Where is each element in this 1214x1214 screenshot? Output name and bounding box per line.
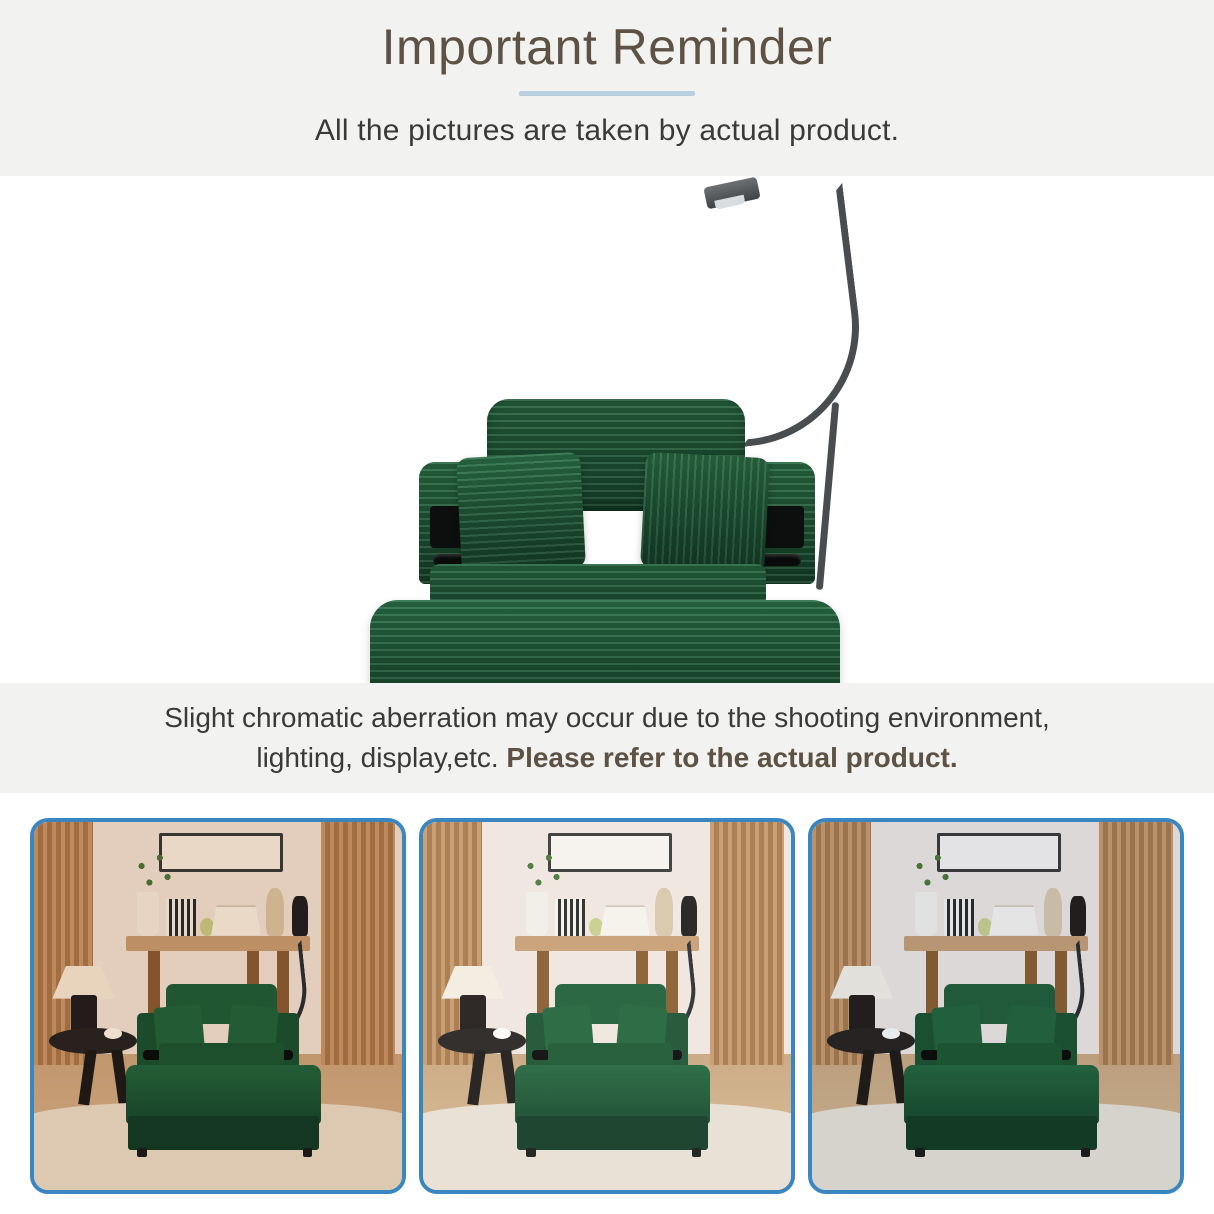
page-subtitle: All the pictures are taken by actual pro… — [315, 114, 899, 148]
corduroy-texture — [640, 452, 770, 574]
chaise-seat-top — [370, 600, 840, 683]
room-scene — [34, 822, 402, 1190]
caption-line-2-strong: Please refer to the actual product. — [506, 742, 957, 773]
title-divider — [519, 91, 695, 96]
thumbnail-room-scene-cool[interactable] — [808, 818, 1184, 1194]
caption-line-2-normal: lighting, display,etc. — [256, 742, 506, 773]
page-title: Important Reminder — [382, 18, 833, 77]
caption-line-2: lighting, display,etc. Please refer to t… — [256, 738, 957, 778]
thumbnail-room-scene-warm[interactable] — [30, 818, 406, 1194]
throw-pillow-left — [456, 452, 586, 574]
product-reminder-page: Important Reminder All the pictures are … — [0, 0, 1214, 1214]
caption-band: Slight chromatic aberration may occur du… — [0, 683, 1214, 793]
lamp-stem — [816, 402, 839, 590]
room-scene — [423, 822, 791, 1190]
thumbnail-row — [0, 818, 1214, 1190]
caption-line-1: Slight chromatic aberration may occur du… — [164, 698, 1050, 738]
throw-pillow-right — [640, 452, 770, 574]
corduroy-texture — [456, 452, 586, 574]
warm-tone-overlay — [34, 822, 402, 1190]
cool-tone-overlay — [812, 822, 1180, 1190]
neutral-tone-overlay — [423, 822, 791, 1190]
header-band: Important Reminder All the pictures are … — [0, 0, 1214, 176]
chaise-lounge-illustration — [0, 176, 1214, 683]
corduroy-texture — [370, 600, 840, 683]
hero-product-photo — [0, 176, 1214, 683]
thumbnail-room-scene-neutral[interactable] — [419, 818, 795, 1194]
cup-holder-right — [759, 554, 801, 566]
room-scene — [812, 822, 1180, 1190]
